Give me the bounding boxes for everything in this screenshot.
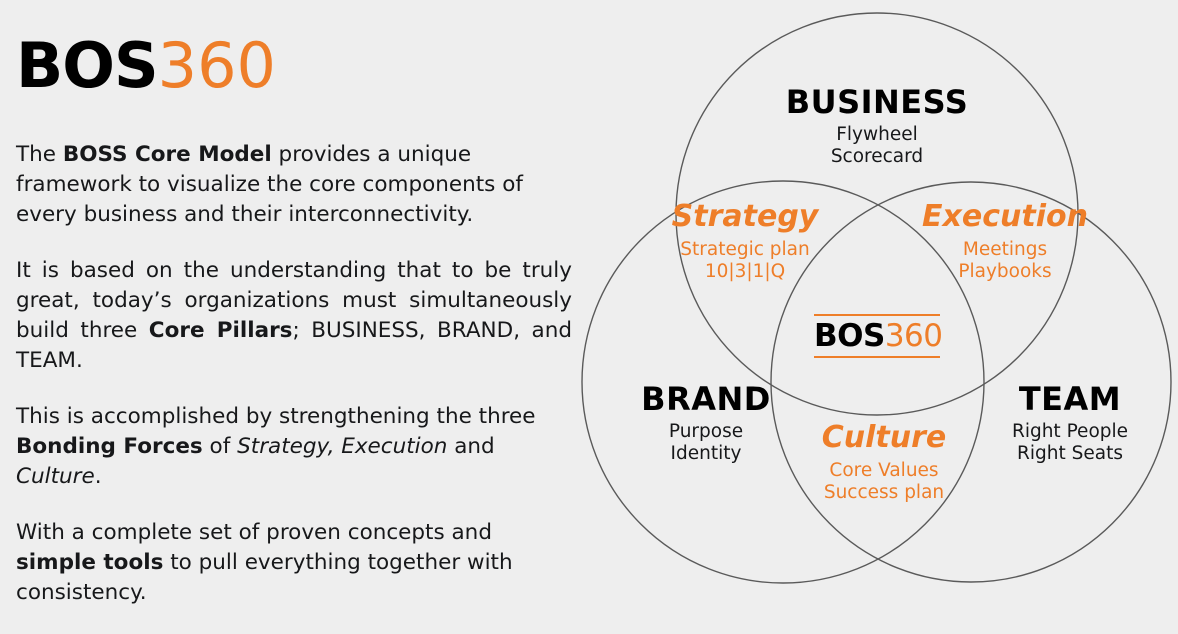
logo-accent-text: 360 bbox=[158, 29, 276, 102]
center-logo-primary-text: BOS bbox=[814, 318, 885, 354]
bonding-force-execution-title: Execution bbox=[880, 201, 1130, 233]
p2-run-2: Core Pillars bbox=[149, 318, 293, 343]
bonding-force-culture-item-2: Success plan bbox=[759, 482, 1009, 504]
pillar-brand-title: BRAND bbox=[556, 382, 856, 416]
paragraph-4: With a complete set of proven concepts a… bbox=[16, 518, 572, 608]
bonding-force-culture-item-1: Core Values bbox=[759, 460, 1009, 482]
logo-primary-text: BOS bbox=[16, 29, 158, 102]
p3-run-2: Bonding Forces bbox=[16, 434, 203, 459]
paragraph-1: The BOSS Core Model provides a unique fr… bbox=[16, 140, 572, 230]
bonding-force-strategy-item-2: 10|3|1|Q bbox=[620, 261, 870, 283]
bonding-force-strategy-item-1: Strategic plan bbox=[620, 239, 870, 261]
p3-run-5: and bbox=[447, 434, 494, 459]
bonding-force-strategy-title: Strategy bbox=[620, 201, 870, 233]
p3-run-1: This is accomplished by strengthening th… bbox=[16, 404, 536, 429]
pillar-team-title: TEAM bbox=[930, 382, 1178, 416]
left-content-column: BOS360 The BOSS Core Model provides a un… bbox=[16, 0, 572, 596]
bonding-force-execution: Execution Meetings Playbooks bbox=[880, 201, 1130, 283]
pillar-business: BUSINESS Flywheel Scorecard bbox=[727, 85, 1027, 168]
boss-core-model-venn-diagram: BUSINESS Flywheel Scorecard BRAND Purpos… bbox=[560, 0, 1178, 596]
center-logo-accent-text: 360 bbox=[885, 318, 943, 354]
p1-run-1: The bbox=[16, 142, 63, 167]
p3-run-3: of bbox=[203, 434, 237, 459]
bonding-force-execution-item-2: Playbooks bbox=[880, 261, 1130, 283]
p4-run-1: With a complete set of proven concepts a… bbox=[16, 520, 492, 545]
p4-run-2: simple tools bbox=[16, 550, 163, 575]
center-logo-text: BOS360 bbox=[814, 316, 940, 356]
pillar-business-item-2: Scorecard bbox=[727, 146, 1027, 168]
paragraph-2: It is based on the understanding that to… bbox=[16, 256, 572, 376]
center-logo-rule-bottom bbox=[814, 356, 940, 358]
description-body: The BOSS Core Model provides a unique fr… bbox=[16, 140, 572, 634]
bonding-force-culture: Culture Core Values Success plan bbox=[759, 422, 1009, 504]
bonding-force-strategy: Strategy Strategic plan 10|3|1|Q bbox=[620, 201, 870, 283]
pillar-business-title: BUSINESS bbox=[727, 85, 1027, 119]
bonding-force-execution-item-1: Meetings bbox=[880, 239, 1130, 261]
p3-run-7: . bbox=[95, 464, 102, 489]
page-root: BOS360 The BOSS Core Model provides a un… bbox=[0, 0, 1178, 596]
pillar-business-item-1: Flywheel bbox=[727, 124, 1027, 146]
p3-run-4: Strategy, Execution bbox=[237, 434, 447, 459]
p1-run-2: BOSS Core Model bbox=[63, 142, 272, 167]
bos360-logo: BOS360 bbox=[16, 35, 276, 97]
paragraph-3: This is accomplished by strengthening th… bbox=[16, 402, 572, 492]
venn-center-bos360-logo: BOS360 bbox=[814, 314, 940, 358]
bonding-force-culture-title: Culture bbox=[759, 422, 1009, 454]
p3-run-6: Culture bbox=[16, 464, 95, 489]
